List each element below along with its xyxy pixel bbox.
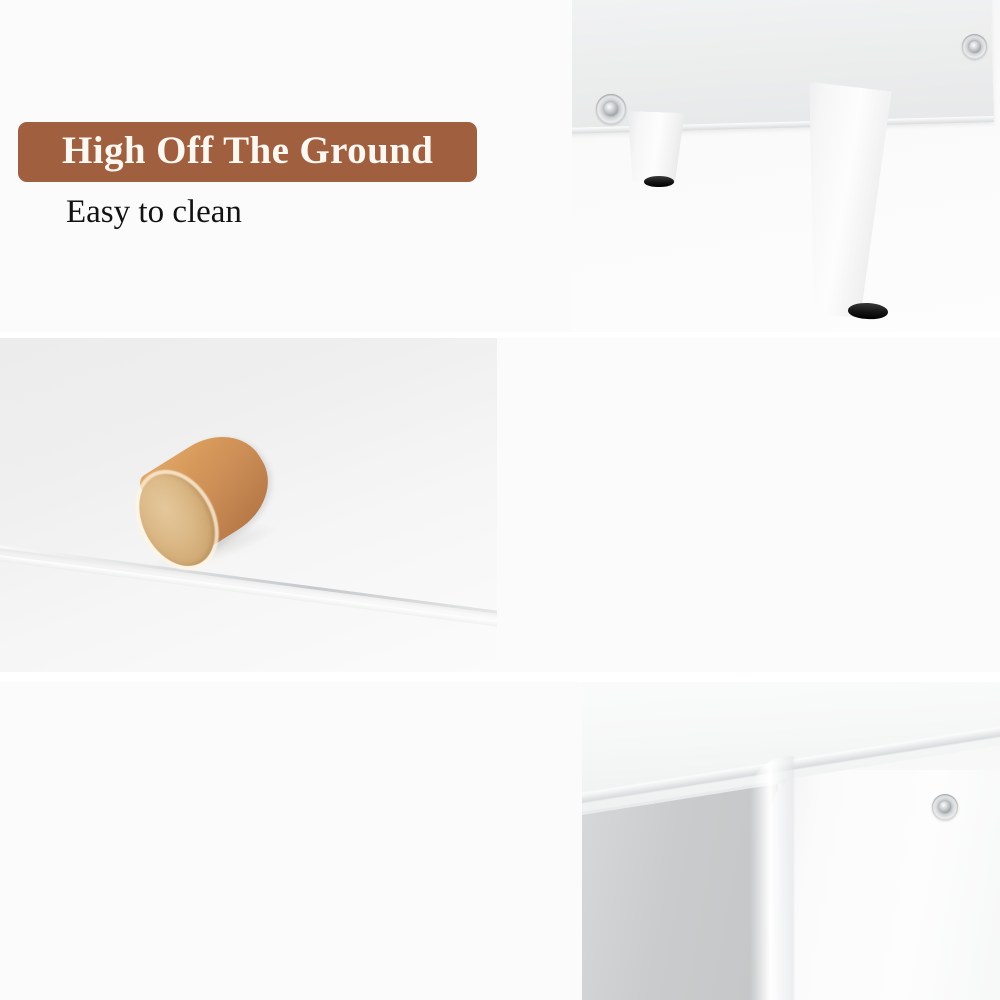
- rubber-foot-back: [644, 176, 674, 187]
- panel-divider: [0, 672, 1000, 682]
- photo-rounded-corner: [582, 682, 1000, 1000]
- drawer-seam-highlight: [0, 550, 497, 647]
- furniture-leg-back: [623, 111, 687, 183]
- screw-icon: [596, 94, 626, 124]
- caption-high-off-the-ground: High Off The Ground Easy to clean: [18, 122, 477, 231]
- rounded-corner-edge: [750, 756, 794, 1000]
- feature-sheet: High Off The Ground Easy to clean Brass …: [0, 0, 1000, 1000]
- photo-brass-handle: [0, 338, 497, 672]
- cabinet-interior-recess: [582, 782, 778, 1000]
- feature-panel-brass-handle: Brass Handle Durable: [0, 338, 1000, 672]
- feature-panel-high-off-the-ground: High Off The Ground Easy to clean: [0, 0, 1000, 332]
- panel-divider: [0, 332, 1000, 338]
- photo-furniture-legs: [572, 0, 1000, 332]
- feature-badge-label: High Off The Ground: [18, 122, 477, 182]
- cabinet-front-face: [770, 770, 1000, 1000]
- screw-icon: [962, 34, 987, 59]
- screw-icon: [932, 794, 958, 820]
- rubber-foot-front: [848, 302, 889, 320]
- feature-panel-rounded-corners: Rounded Corners Avoid bumps and scratche…: [0, 682, 1000, 1000]
- feature-subtitle: Easy to clean: [66, 194, 477, 231]
